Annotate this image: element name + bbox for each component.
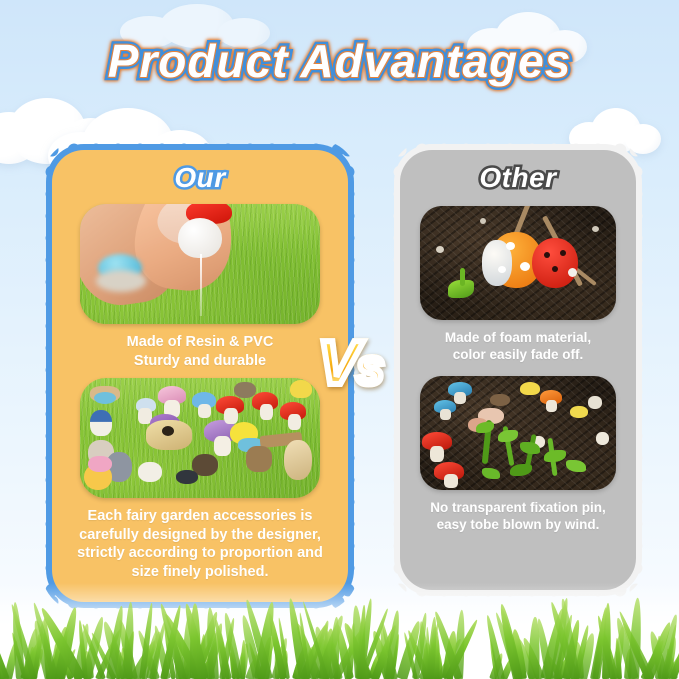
caption-other-2: No transparent fixation pin,easy tobe bl… xyxy=(400,490,636,540)
caption-our-2: Each fairy garden accessories iscarefull… xyxy=(52,498,348,587)
caption-our-1: Made of Resin & PVCSturdy and durable xyxy=(52,324,348,376)
panel-other-heading: Other xyxy=(400,150,636,194)
infographic-canvas: Product Advantages Our xyxy=(0,0,679,679)
caption-other-1: Made of foam material,color easily fade … xyxy=(400,320,636,370)
photo-foam-mushroom-and-ladybug-on-soil xyxy=(420,206,616,320)
panel-our-heading: Our xyxy=(52,150,348,194)
photo-hand-holding-mushroom-with-pin xyxy=(80,204,320,324)
vs-letter-s: s xyxy=(356,339,381,395)
grass-strip xyxy=(0,583,679,679)
photo-miniatures-scattered-on-soil xyxy=(420,376,616,490)
panel-other: Other xyxy=(400,150,636,590)
vs-letter-v: V xyxy=(318,329,356,398)
page-title: Product Advantages xyxy=(0,34,679,88)
photo-fairy-garden-miniatures-on-moss xyxy=(80,378,320,498)
vs-badge: Vs xyxy=(318,328,381,399)
panel-our: Our Ma xyxy=(52,150,348,602)
